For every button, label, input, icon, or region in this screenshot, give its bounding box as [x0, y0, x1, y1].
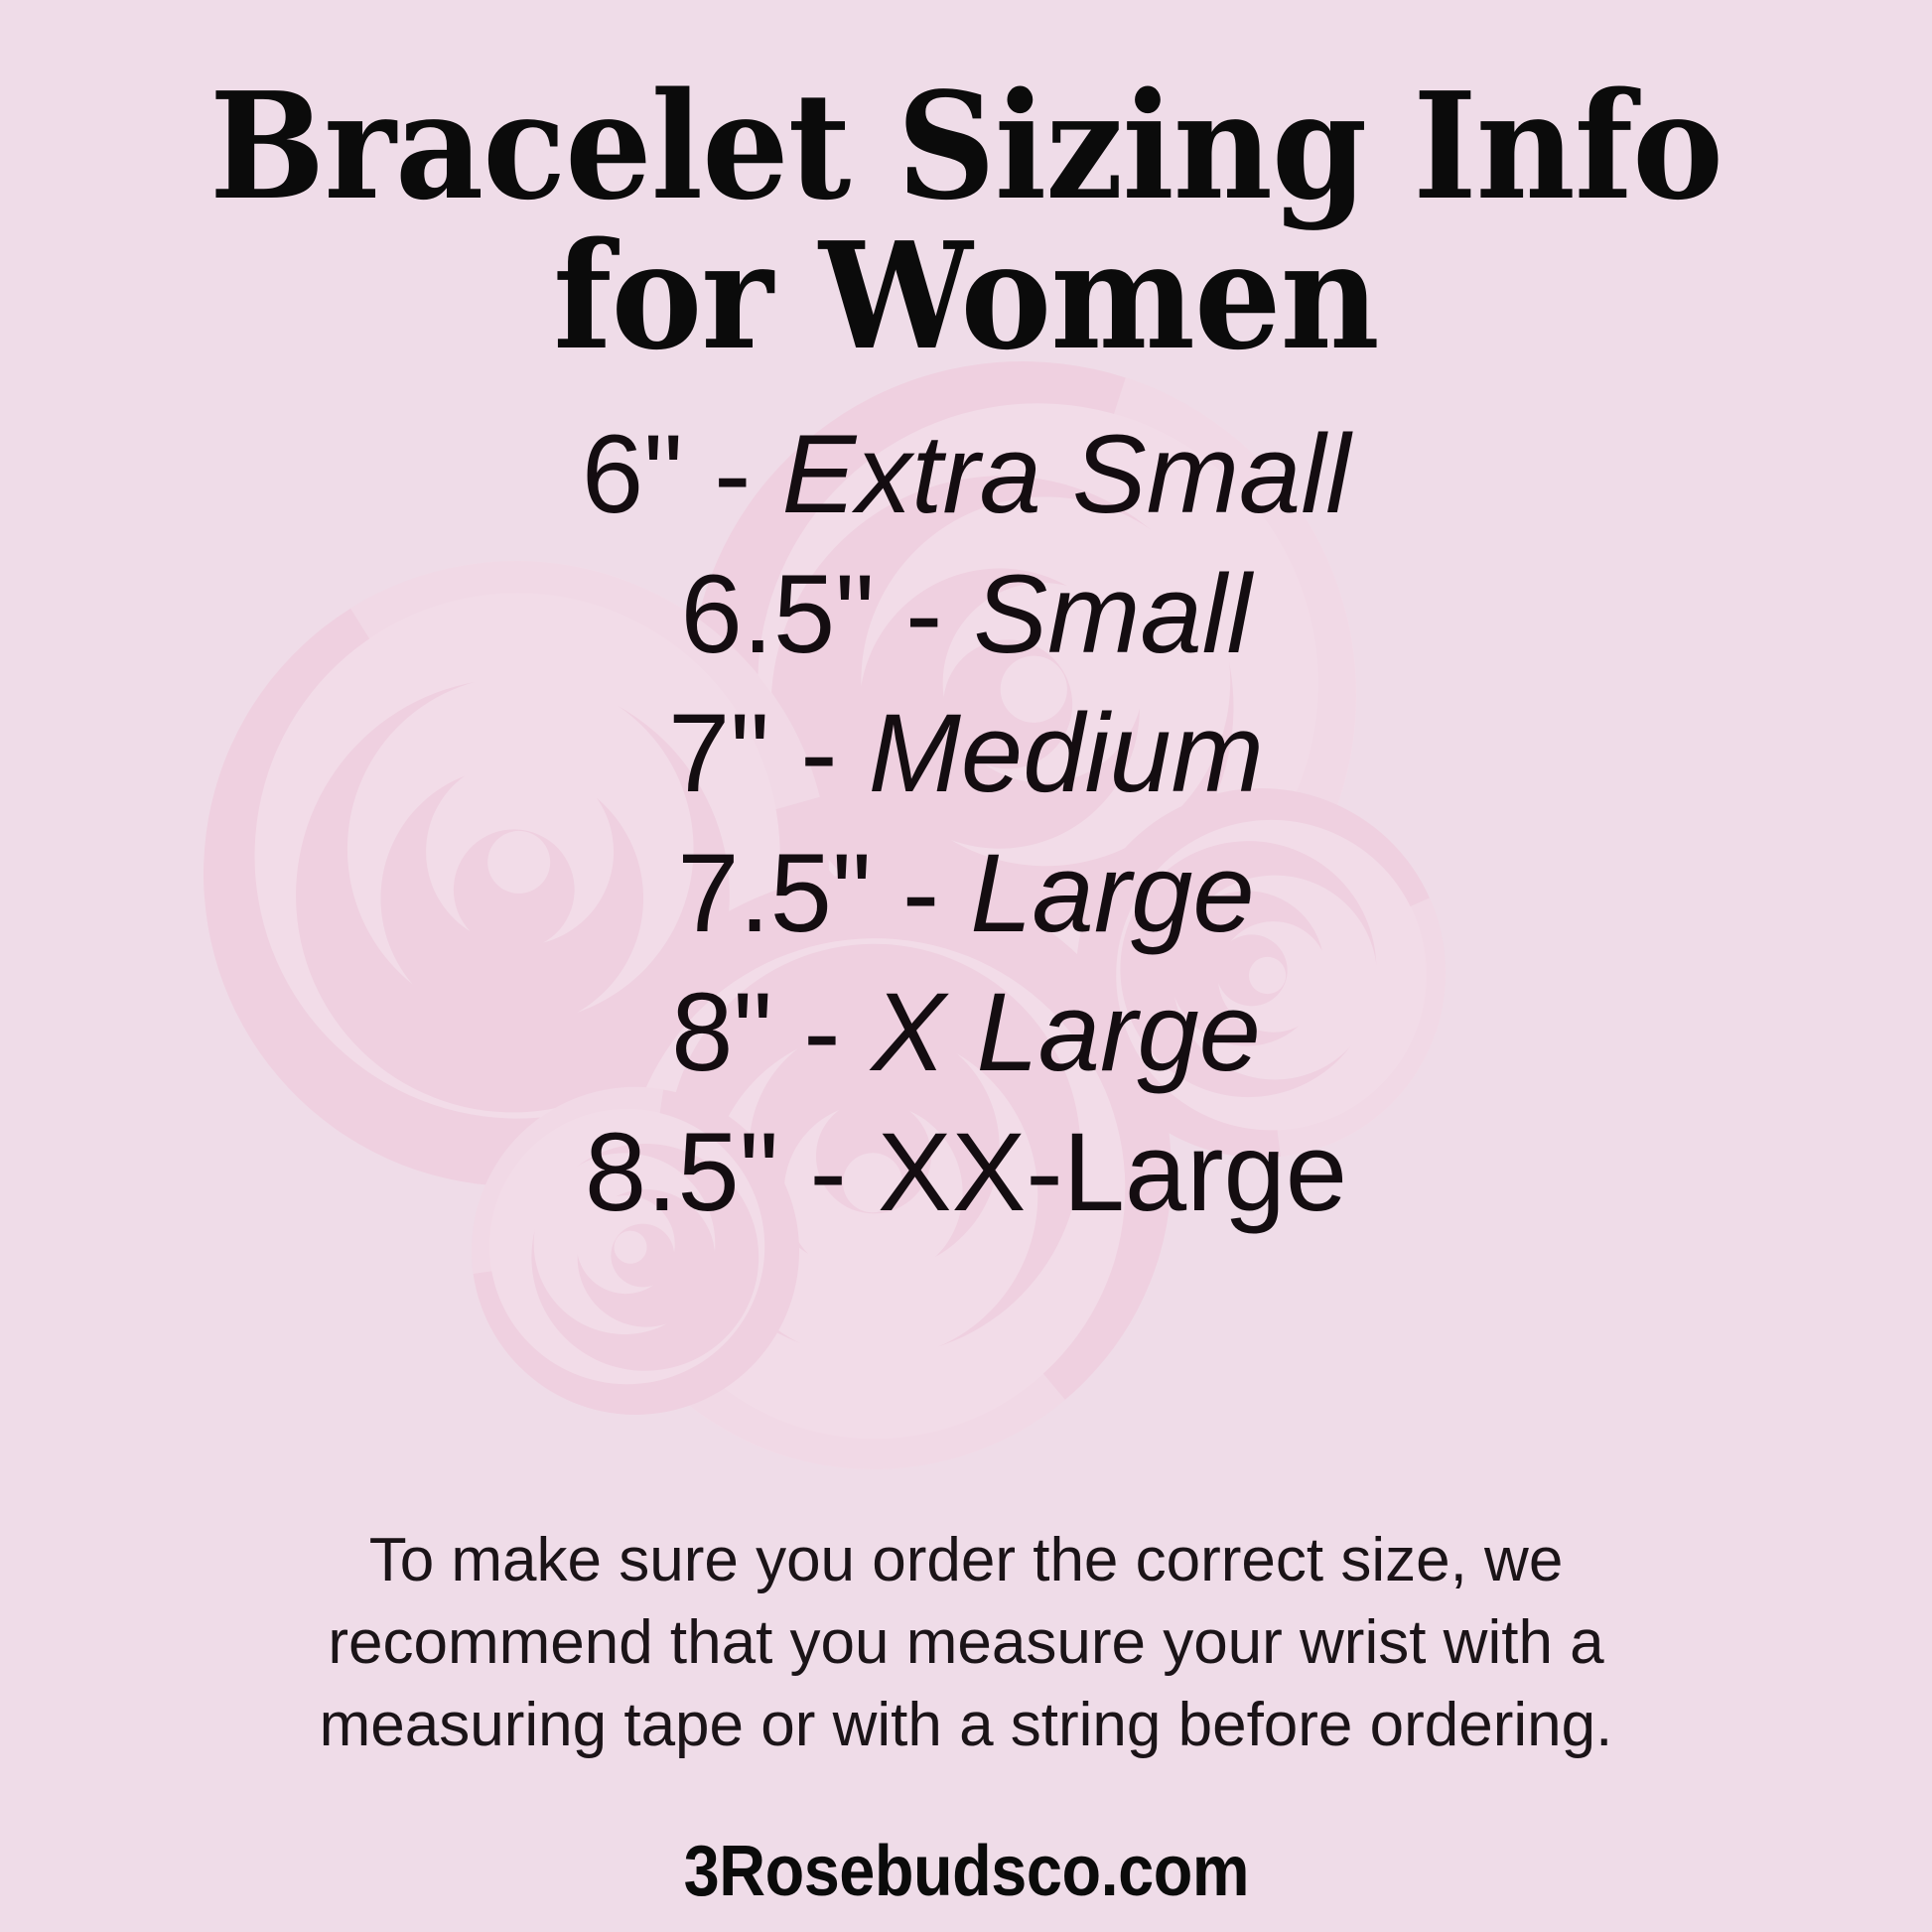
size-measure: 6": [582, 412, 683, 536]
size-row: 8" - X Large: [0, 963, 1932, 1103]
size-row: 6" - Extra Small: [0, 405, 1932, 545]
size-measure: 7.5": [677, 831, 871, 955]
page-title-text: Bracelet Sizing Info for Women: [169, 71, 1762, 371]
size-measure: 8.5": [585, 1110, 778, 1234]
size-label: X Large: [872, 970, 1261, 1094]
size-measure: 6.5": [680, 552, 874, 676]
size-separator: -: [902, 831, 939, 955]
footer: 3Rosebudsco.com: [0, 1831, 1932, 1912]
size-separator: -: [803, 970, 840, 1094]
instructions-line: recommend that you measure your wrist wi…: [149, 1601, 1783, 1684]
size-list: 6" - Extra Small 6.5" - Small 7" - Mediu…: [0, 405, 1932, 1242]
size-row: 6.5" - Small: [0, 545, 1932, 685]
size-separator: -: [905, 552, 942, 676]
bracelet-sizing-poster: Bracelet Sizing Info for Women 6" - Extr…: [0, 0, 1932, 1932]
instructions-line: measuring tape or with a string before o…: [149, 1684, 1783, 1766]
size-measure: 7": [668, 691, 769, 815]
page-title: Bracelet Sizing Info for Women: [0, 71, 1932, 371]
size-separator: -: [800, 691, 837, 815]
instructions-paragraph: To make sure you order the correct size,…: [0, 1519, 1932, 1766]
size-label: Medium: [869, 691, 1264, 815]
size-measure: 8": [671, 970, 772, 1094]
size-row: 8.5" - XX-Large: [0, 1103, 1932, 1243]
size-label: Small: [973, 552, 1251, 676]
size-row: 7.5" - Large: [0, 824, 1932, 964]
size-row: 7" - Medium: [0, 684, 1932, 824]
size-label: XX-Large: [878, 1110, 1347, 1234]
website-url: 3Rosebudsco.com: [683, 1831, 1248, 1912]
size-label: Extra Small: [782, 412, 1351, 536]
size-label: Large: [970, 831, 1254, 955]
poster-content: Bracelet Sizing Info for Women 6" - Extr…: [0, 0, 1932, 1932]
instructions-line: To make sure you order the correct size,…: [149, 1519, 1783, 1601]
size-separator: -: [714, 412, 751, 536]
size-separator: -: [810, 1110, 847, 1234]
